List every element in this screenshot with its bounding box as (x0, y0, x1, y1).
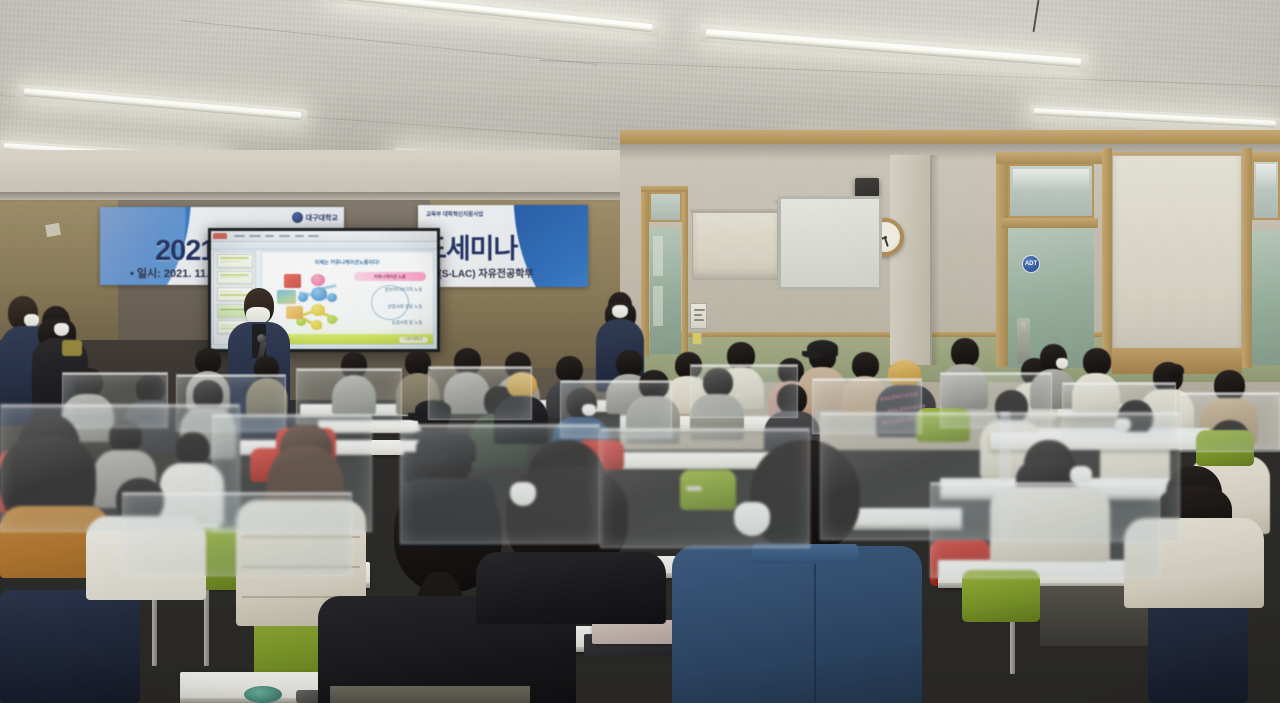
ppt-menu-item[interactable] (308, 235, 319, 237)
scarf (62, 340, 82, 356)
ppt-menu-item[interactable] (279, 235, 290, 237)
torso (476, 552, 666, 624)
graph-node-blue (298, 293, 308, 302)
far-right-blind[interactable] (1112, 155, 1242, 355)
slide-title: 이제는 커뮤니케이션노동이다! (275, 259, 419, 266)
slide-text-line: 정보미디어기적 노동 (385, 287, 423, 293)
head (951, 338, 979, 367)
ppt-menu-item[interactable] (234, 235, 245, 237)
slide-image-red (284, 274, 301, 288)
ppt-menu-item[interactable] (249, 235, 260, 237)
wall-column-shadow (930, 155, 940, 365)
face-mask (1056, 358, 1068, 369)
door-frame (682, 186, 688, 356)
paper-on-wall (45, 223, 61, 237)
logo-mark-icon (292, 212, 303, 223)
graph-node-pink (311, 274, 325, 286)
head (556, 356, 583, 383)
right-wall-ceiling-trim (620, 130, 1280, 144)
slide-text-line: 농업사회 몸 노동 (392, 320, 423, 326)
acrylic-divider (690, 364, 798, 418)
far-right-glass (1252, 230, 1280, 365)
banner-university-logo: 대구대학교 (292, 212, 338, 223)
acrylic-divider-foreground (400, 424, 600, 544)
face-mask (612, 305, 628, 318)
acrylic-divider-foreground (930, 482, 1160, 578)
lecture-hall-photo: ADT 대구대학교 2021학 • 일시: 2021. 11. 11. 교육부 … (0, 0, 1280, 703)
slide-thumbnail[interactable] (217, 271, 253, 285)
far-right-frame (1242, 148, 1252, 368)
acrylic-divider (428, 366, 532, 420)
banner-right-logo: 교육부 대학혁신지원사업 (426, 210, 483, 218)
graph-node-yellow (311, 304, 325, 316)
window-blind[interactable] (692, 212, 779, 280)
wall-shadow-band (0, 192, 700, 202)
banner-right-logo-text: 교육부 대학혁신지원사업 (426, 210, 483, 218)
acrylic-divider-foreground (600, 428, 810, 548)
banner-right: 교육부 대학혁신지원사업 도세미나 대학(S-LAC) 자유전공학부 (418, 205, 588, 287)
wall-sign-small (692, 332, 702, 345)
wall-column (890, 155, 932, 365)
floor (330, 686, 530, 703)
ppt-file-tab[interactable] (213, 233, 227, 239)
wall-sign (690, 303, 707, 329)
graph-node-blue (311, 287, 326, 301)
acrylic-divider (1180, 392, 1280, 452)
shirt-seam (814, 564, 816, 702)
slide-thumbnail[interactable] (217, 254, 253, 268)
head (1083, 348, 1111, 376)
door-transom-window (649, 192, 682, 222)
ppt-title-bar (211, 231, 437, 242)
microphone-head (257, 334, 266, 343)
ppt-ribbon[interactable] (211, 242, 437, 250)
ppt-menu-item[interactable] (295, 235, 304, 237)
right-door-midrail (1002, 218, 1098, 228)
cup-on-desk[interactable] (244, 686, 282, 703)
door-glass-frost (653, 286, 663, 326)
slide-text-line: 산업사회 성동 노동 (388, 304, 423, 310)
ppt-menu-item[interactable] (265, 235, 274, 237)
hair-bun (1168, 364, 1184, 378)
right-door-transom (1008, 164, 1094, 218)
far-right-transom (1252, 160, 1280, 220)
door-glass-frost (653, 236, 663, 276)
head (852, 352, 879, 379)
graph-node-yellow (311, 320, 321, 329)
far-right-frame (1102, 148, 1112, 368)
banner-logo-text: 대구대학교 (306, 213, 338, 223)
adt-security-sticker: ADT (1022, 255, 1040, 273)
slide-pink-badge: 커뮤니케이션 노동 (354, 272, 426, 280)
face-mask (54, 323, 69, 336)
cap-brim (802, 351, 824, 358)
right-door-frame (996, 152, 1008, 367)
graph-node-green (327, 315, 337, 324)
whiteboard (778, 196, 882, 290)
torso-blue-shirt (672, 546, 922, 703)
clock-center-pin (884, 236, 887, 239)
chair-navy[interactable] (0, 590, 140, 703)
graph-node-blue (327, 293, 337, 302)
slide-footer-badge: • 대구대학교 (399, 337, 428, 343)
acrylic-divider-foreground (122, 492, 352, 576)
